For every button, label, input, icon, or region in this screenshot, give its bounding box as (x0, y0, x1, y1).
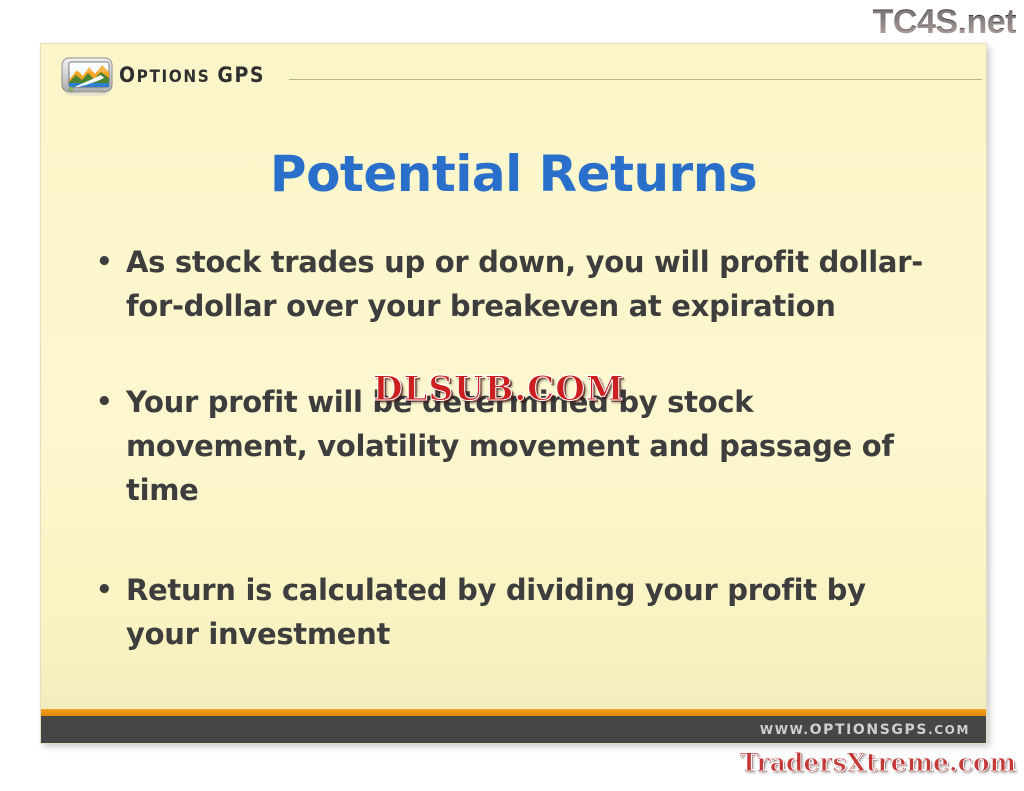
bullet-marker-icon: • (96, 380, 126, 424)
bullet-spacer (96, 512, 936, 568)
list-item: • As stock trades up or down, you will p… (96, 240, 936, 328)
footer-url-suffix: .com (928, 723, 970, 737)
footer-url: www.OptionsGPS.com (760, 722, 970, 738)
list-item: • Return is calculated by dividing your … (96, 568, 936, 656)
page-title: Potential Returns (41, 145, 986, 203)
dlsub-watermark: DLSUB.COM (373, 369, 624, 409)
brand-rest: ptions (137, 67, 218, 87)
header-divider (289, 79, 982, 80)
list-item-text: Return is calculated by dividing your pr… (126, 568, 936, 656)
footer-url-brand: OptionsGPS (810, 722, 928, 738)
bullet-marker-icon: • (96, 568, 126, 612)
presentation-slide: Options GPS Potential Returns • As stock… (41, 44, 986, 743)
gps-device-icon (61, 56, 113, 96)
footer-url-prefix: www. (760, 723, 810, 737)
tradersxtreme-watermark: TradersXtreme.com (740, 748, 1016, 777)
brand-name-options-gps: Options GPS (119, 63, 265, 87)
footer-accent-bar (41, 709, 986, 716)
brand-gps: GPS (217, 63, 265, 87)
bullet-list: • As stock trades up or down, you will p… (96, 240, 936, 656)
tc4s-site-logo: TC4S.net (873, 2, 1016, 42)
slide-header: Options GPS (41, 44, 986, 100)
brand-initial: O (119, 63, 137, 87)
list-item-text: As stock trades up or down, you will pro… (126, 240, 936, 328)
slide-footer: www.OptionsGPS.com (41, 716, 986, 743)
bullet-marker-icon: • (96, 240, 126, 284)
